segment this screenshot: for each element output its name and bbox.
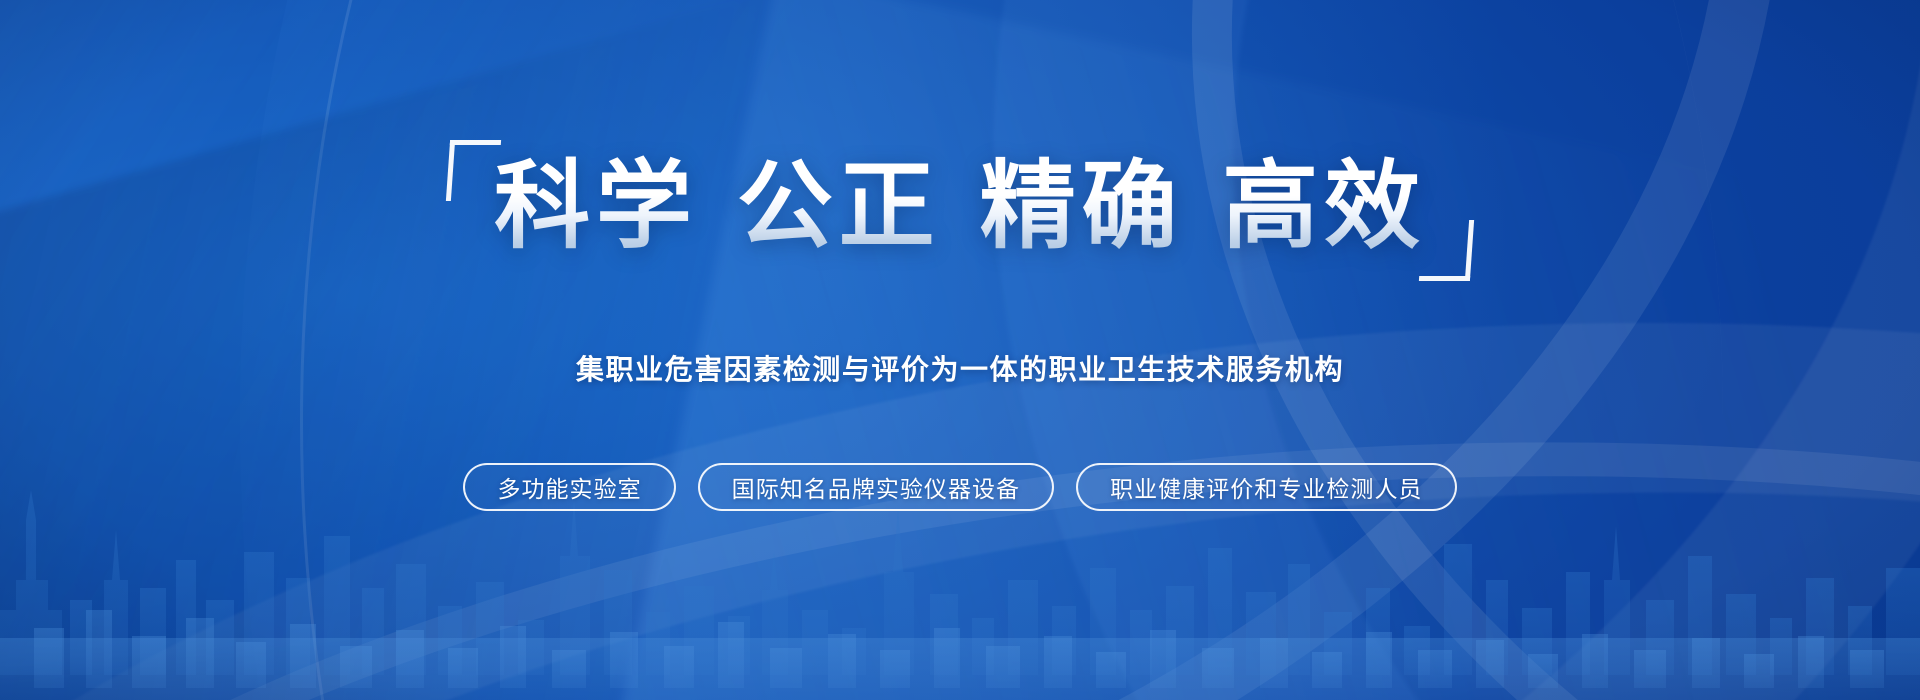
feature-pill-staff[interactable]: 职业健康评价和专业检测人员: [1076, 463, 1456, 511]
banner-content: 科学 公正 精确 高效 集职业危害因素检测与评价为一体的职业卫生技术服务机构 多…: [0, 0, 1920, 700]
hero-banner: 科学 公正 精确 高效 集职业危害因素检测与评价为一体的职业卫生技术服务机构 多…: [0, 0, 1920, 700]
feature-pill-equipment[interactable]: 国际知名品牌实验仪器设备: [698, 463, 1054, 511]
page-subtitle: 集职业危害因素检测与评价为一体的职业卫生技术服务机构: [0, 348, 1920, 388]
bracket-close-icon: [1419, 220, 1474, 281]
page-title: 科学 公正 精确 高效: [494, 152, 1426, 261]
feature-pill-lab[interactable]: 多功能实验室: [463, 463, 675, 511]
headline-box: 科学 公正 精确 高效: [448, 152, 1472, 261]
feature-pill-group: 多功能实验室 国际知名品牌实验仪器设备 职业健康评价和专业检测人员: [0, 463, 1920, 511]
bracket-open-icon: [446, 140, 501, 201]
headline-container: 科学 公正 精确 高效: [0, 152, 1920, 261]
